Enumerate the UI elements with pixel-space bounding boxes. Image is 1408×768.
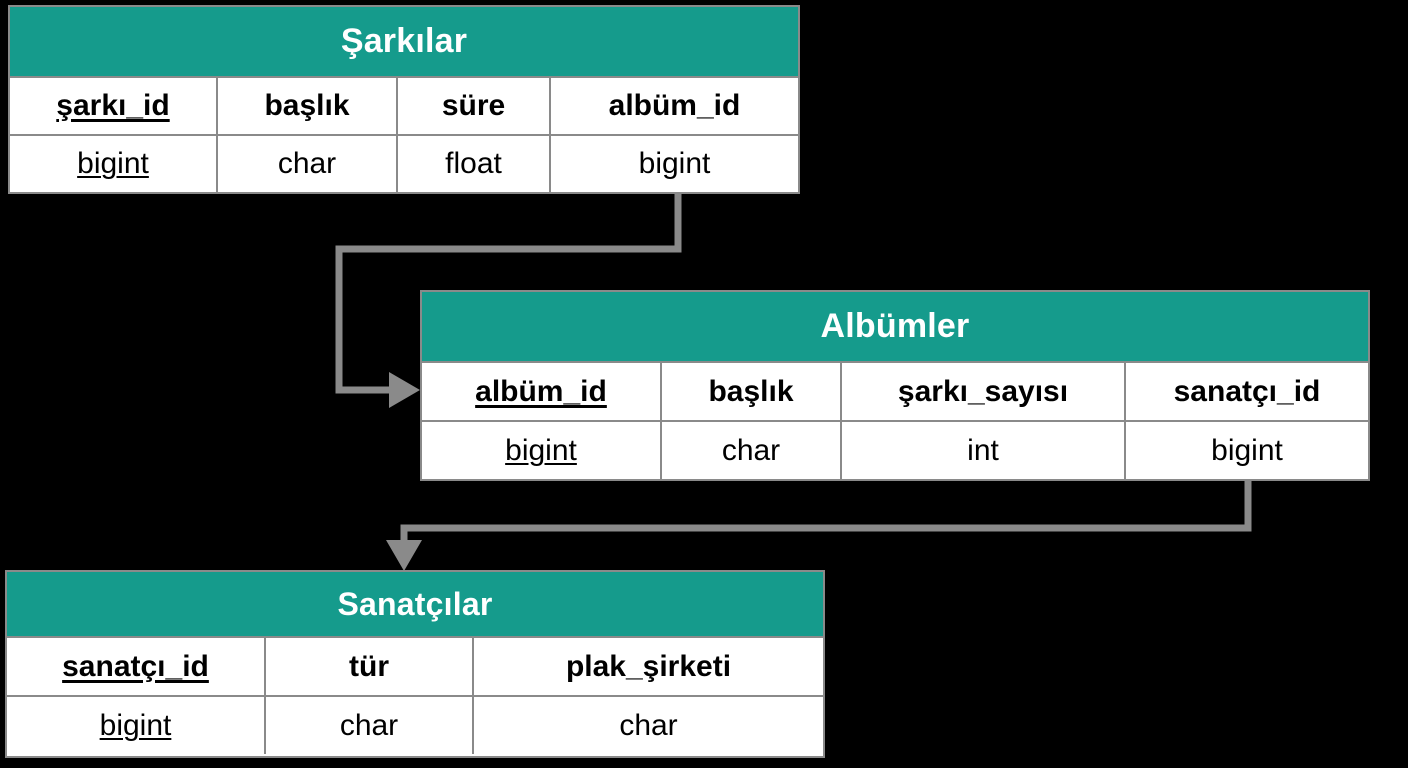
column-name-sanatci-id[interactable]: sanatçı_id [7, 638, 266, 695]
table-albumler[interactable]: Albümler albüm_id başlık şarkı_sayısı sa… [420, 290, 1370, 481]
column-name-album-id[interactable]: albüm_id [422, 363, 662, 420]
column-name-sanatci-id[interactable]: sanatçı_id [1126, 363, 1368, 420]
table-sarkilar-column-names: şarkı_id başlık süre albüm_id [10, 76, 798, 134]
table-albumler-column-types: bigint char int bigint [422, 420, 1368, 479]
table-albumler-column-names: albüm_id başlık şarkı_sayısı sanatçı_id [422, 361, 1368, 420]
connector-albumler-to-sanatcilar [404, 481, 1248, 543]
column-type-sure: float [398, 136, 551, 192]
column-type-sanatci-id: bigint [7, 697, 266, 754]
column-type-album-id: bigint [551, 136, 798, 192]
column-type-plak-sirketi: char [474, 697, 823, 754]
column-type-sanatci-id: bigint [1126, 422, 1368, 479]
erd-canvas: Şarkılar şarkı_id başlık süre albüm_id b… [0, 0, 1408, 768]
column-type-sarki-id: bigint [10, 136, 218, 192]
table-sanatcilar-title: Sanatçılar [7, 572, 823, 636]
column-type-sarki-sayisi: int [842, 422, 1126, 479]
column-name-baslik[interactable]: başlık [218, 78, 398, 134]
column-type-baslik: char [662, 422, 842, 479]
table-sarkilar-title: Şarkılar [10, 7, 798, 76]
column-name-tur[interactable]: tür [266, 638, 474, 695]
column-name-album-id[interactable]: albüm_id [551, 78, 798, 134]
column-type-baslik: char [218, 136, 398, 192]
column-type-tur: char [266, 697, 474, 754]
arrowhead-to-sanatcilar [386, 540, 422, 571]
table-albumler-title: Albümler [422, 292, 1368, 361]
table-sarkilar-column-types: bigint char float bigint [10, 134, 798, 192]
table-sanatcilar-column-types: bigint char char [7, 695, 823, 754]
table-sarkilar[interactable]: Şarkılar şarkı_id başlık süre albüm_id b… [8, 5, 800, 194]
table-sanatcilar[interactable]: Sanatçılar sanatçı_id tür plak_şirketi b… [5, 570, 825, 758]
column-name-sarki-sayisi[interactable]: şarkı_sayısı [842, 363, 1126, 420]
column-name-baslik[interactable]: başlık [662, 363, 842, 420]
table-sanatcilar-column-names: sanatçı_id tür plak_şirketi [7, 636, 823, 695]
arrowhead-to-albumler [389, 372, 420, 408]
column-name-sarki-id[interactable]: şarkı_id [10, 78, 218, 134]
column-type-album-id: bigint [422, 422, 662, 479]
column-name-sure[interactable]: süre [398, 78, 551, 134]
column-name-plak-sirketi[interactable]: plak_şirketi [474, 638, 823, 695]
